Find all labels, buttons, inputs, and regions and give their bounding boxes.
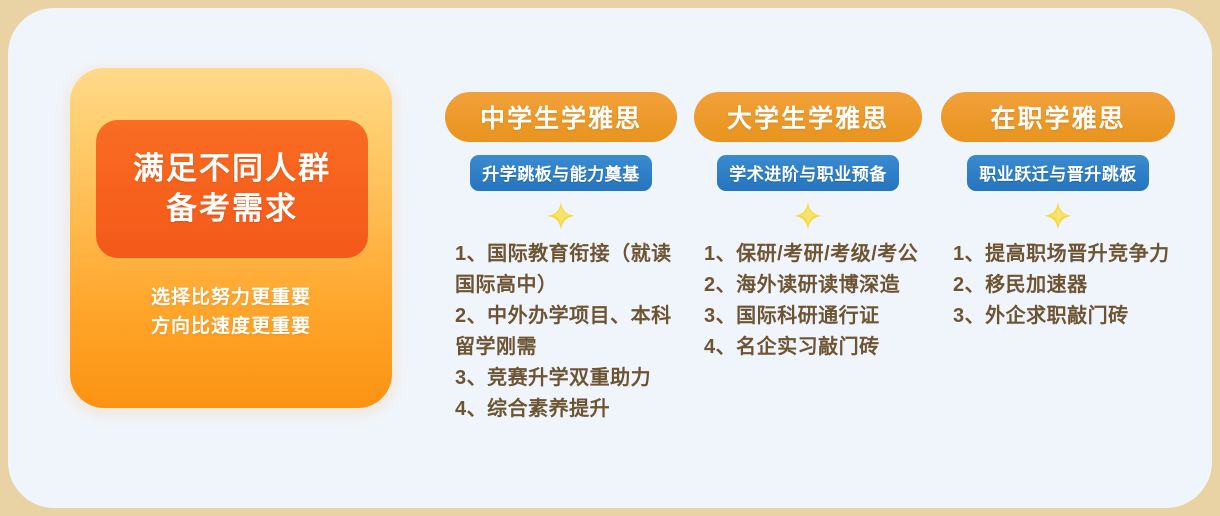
column-title-pill[interactable]: 大学生学雅思 (694, 92, 922, 142)
page-root: 满足不同人群 备考需求 选择比努力更重要 方向比速度更重要 中学生学雅思 升学跳… (0, 0, 1220, 516)
sparkle-row (445, 199, 677, 233)
sparkle-icon (546, 201, 576, 231)
list-item: 3、国际科研通行证 (704, 301, 922, 332)
list-item: 1、国际教育衔接（就读国际高中） (455, 239, 677, 301)
list-item: 1、保研/考研/考级/考公 (704, 239, 922, 270)
column-item-list: 1、提高职场晋升竞争力 2、移民加速器 3、外企求职敲门砖 (953, 239, 1175, 332)
column-item-list: 1、保研/考研/考级/考公 2、海外读研读博深造 3、国际科研通行证 4、名企实… (704, 239, 922, 363)
list-item: 2、中外办学项目、本科留学刚需 (455, 301, 677, 363)
content-panel: 满足不同人群 备考需求 选择比努力更重要 方向比速度更重要 中学生学雅思 升学跳… (8, 8, 1212, 508)
sparkle-icon (793, 201, 823, 231)
column-tagline-pill: 职业跃迁与晋升跳板 (967, 155, 1149, 191)
column-tagline-row: 职业跃迁与晋升跳板 (941, 155, 1175, 191)
column-title-pill[interactable]: 中学生学雅思 (445, 92, 677, 142)
list-item: 4、名企实习敲门砖 (704, 332, 922, 363)
hero-card: 满足不同人群 备考需求 选择比努力更重要 方向比速度更重要 (70, 68, 392, 408)
hero-title-box: 满足不同人群 备考需求 (96, 120, 368, 258)
hero-subtitle: 选择比努力更重要 方向比速度更重要 (70, 283, 392, 342)
list-item: 2、移民加速器 (953, 270, 1175, 301)
list-item: 3、外企求职敲门砖 (953, 301, 1175, 332)
list-item: 2、海外读研读博深造 (704, 270, 922, 301)
column-tagline-pill: 学术进阶与职业预备 (717, 155, 899, 191)
hero-subtitle-line-1: 选择比努力更重要 (70, 283, 392, 312)
hero-title-line-1: 满足不同人群 (133, 149, 331, 189)
column-tagline-pill: 升学跳板与能力奠基 (470, 155, 652, 191)
list-item: 1、提高职场晋升竞争力 (953, 239, 1175, 270)
column-title-pill[interactable]: 在职学雅思 (941, 92, 1175, 142)
column-tagline-row: 升学跳板与能力奠基 (445, 155, 677, 191)
hero-subtitle-line-2: 方向比速度更重要 (70, 312, 392, 341)
column-tagline-row: 学术进阶与职业预备 (694, 155, 922, 191)
sparkle-icon (1043, 201, 1073, 231)
list-item: 3、竞赛升学双重助力 (455, 363, 677, 394)
list-item: 4、综合素养提升 (455, 394, 677, 425)
audience-column-working-professional: 在职学雅思 职业跃迁与晋升跳板 1、提高职场晋升竞争力 2、移民加速器 3、外企… (941, 92, 1175, 332)
sparkle-row (941, 199, 1175, 233)
sparkle-row (694, 199, 922, 233)
audience-column-university: 大学生学雅思 学术进阶与职业预备 1、保研/考研/考级/考公 2、海外读研读博深… (694, 92, 922, 363)
audience-column-middle-school: 中学生学雅思 升学跳板与能力奠基 1、国际教育衔接（就读国际高中） 2、中外办学… (445, 92, 677, 425)
hero-title-line-2: 备考需求 (166, 189, 298, 229)
column-item-list: 1、国际教育衔接（就读国际高中） 2、中外办学项目、本科留学刚需 3、竞赛升学双… (455, 239, 677, 425)
